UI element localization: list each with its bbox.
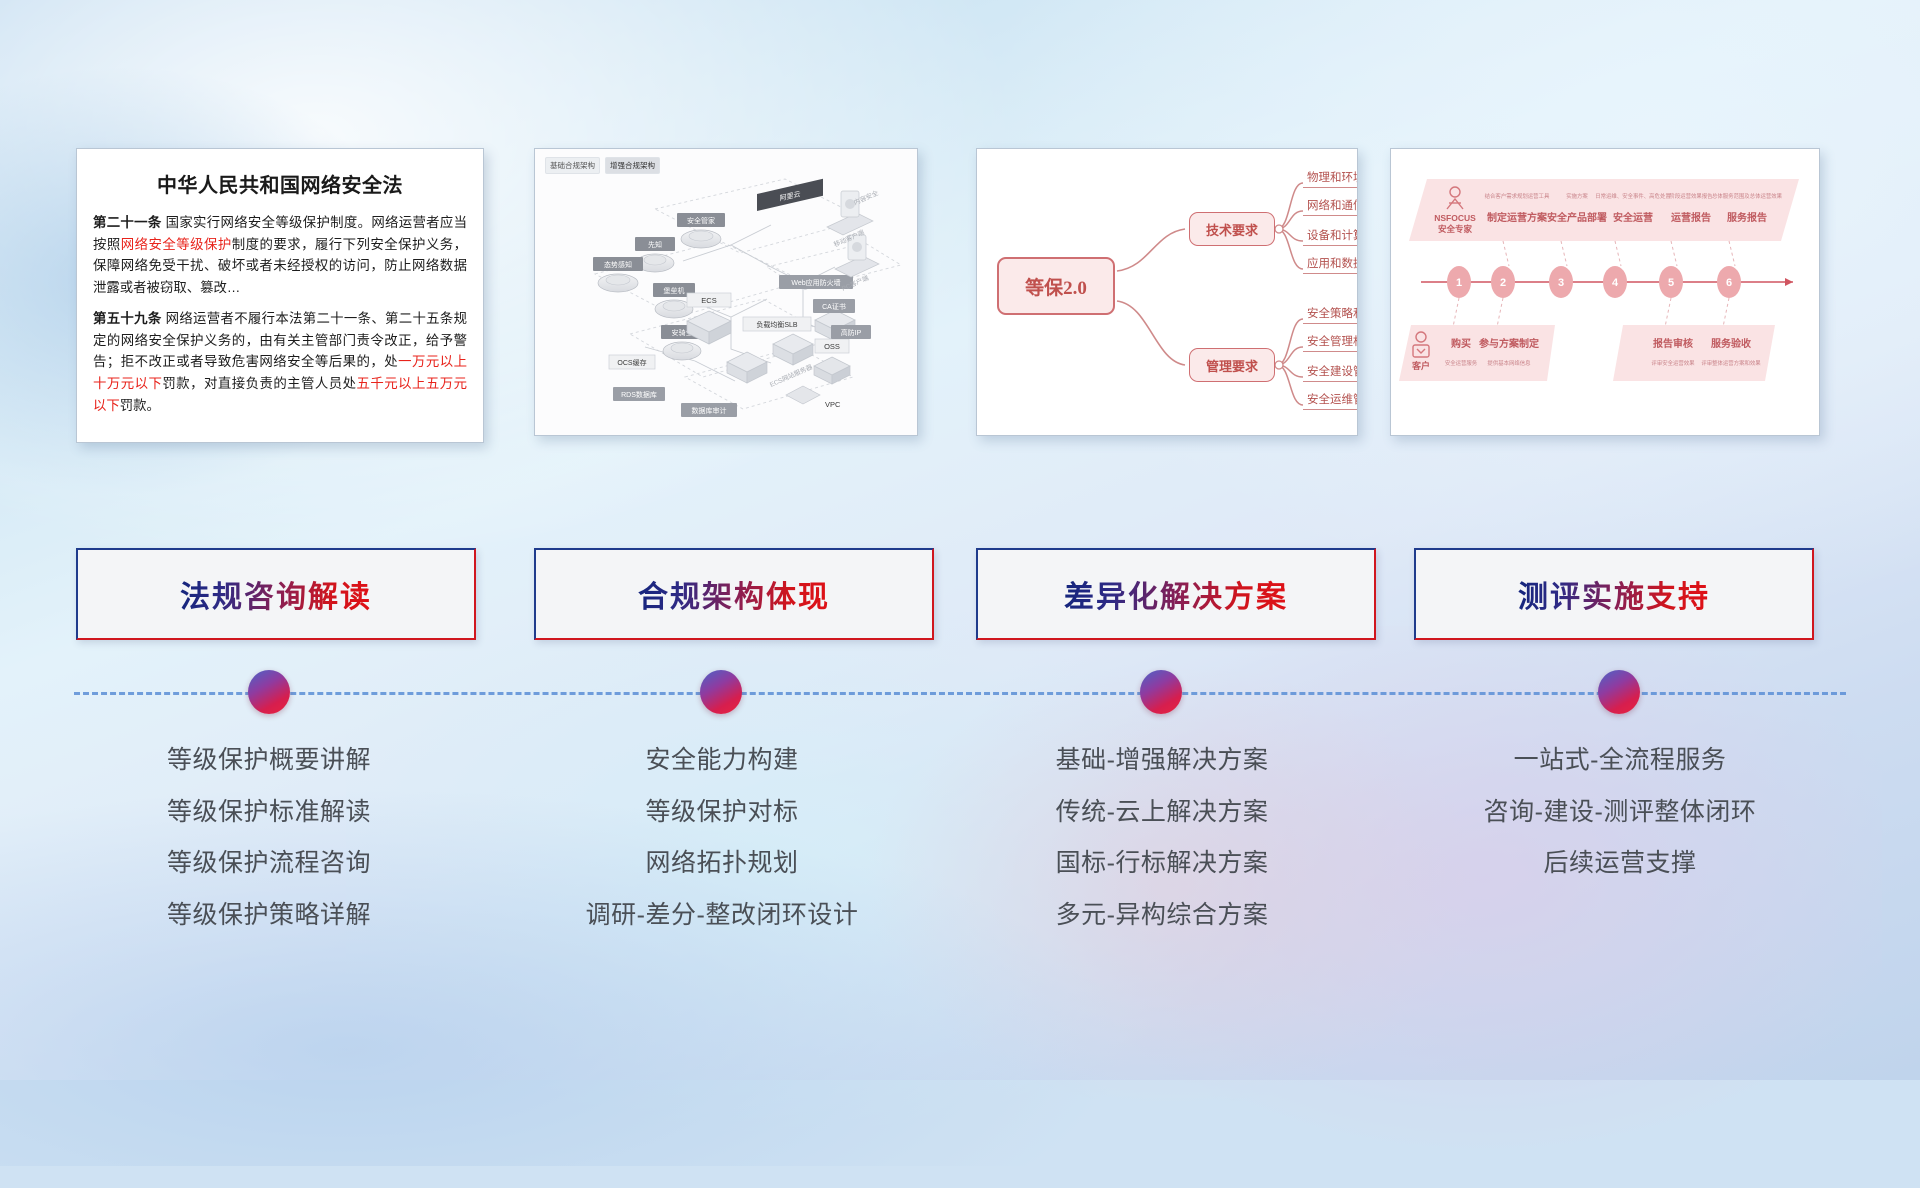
bottom-banner-left	[1399, 325, 1555, 381]
list-item: 基础-增强解决方案	[962, 740, 1362, 781]
timeline-dot-2[interactable]	[700, 670, 742, 714]
list-item: 后续运营支撑	[1420, 843, 1820, 884]
law-article-21-label: 第二十一条	[93, 215, 162, 230]
law-article-59-post: 罚款。	[120, 398, 160, 413]
svg-text:实施方案: 实施方案	[1566, 192, 1588, 200]
list-item: 网络拓扑规划	[522, 843, 922, 884]
svg-text:VPC: VPC	[825, 400, 841, 409]
svg-text:提供基本网络信息: 提供基本网络信息	[1487, 359, 1531, 367]
svg-text:1: 1	[1456, 277, 1462, 289]
svg-text:运营报告: 运营报告	[1671, 211, 1711, 224]
svg-text:堡垒机: 堡垒机	[664, 286, 685, 295]
svg-text:安全运营: 安全运营	[1613, 211, 1653, 224]
list-item: 传统-云上解决方案	[962, 792, 1362, 833]
header-box-regulation-consulting[interactable]: 法规咨询解读	[76, 548, 476, 640]
header-box-differentiated-solution[interactable]: 差异化解决方案	[976, 548, 1376, 640]
header-label: 合规架构体现	[638, 572, 830, 616]
mindmap-leaf[interactable]: 设备和计算安全	[1303, 227, 1358, 246]
header-label: 测评实施支持	[1518, 572, 1710, 616]
svg-text:负载均衡SLB: 负载均衡SLB	[756, 320, 798, 329]
law-article-21-highlight: 网络安全等级保护	[121, 237, 232, 252]
mindmap-root[interactable]: 等保2.0	[997, 257, 1115, 315]
list-item: 调研-差分-整改闭环设计	[522, 895, 922, 936]
expert-label-line1: NSFOCUS	[1434, 213, 1476, 223]
law-title: 中华人民共和国网络安全法	[93, 169, 467, 198]
svg-text:结合客户需求规划运营工具: 结合客户需求规划运营工具	[1485, 192, 1550, 200]
nsfocus-svg: NSFOCUS 安全专家 客户 1	[1391, 149, 1819, 435]
svg-text:RDS数据库: RDS数据库	[621, 390, 657, 399]
svg-text:先知: 先知	[648, 240, 662, 249]
mindmap-branch-management[interactable]: 管理要求	[1189, 348, 1275, 382]
mindmap-diagram: 等保2.0 技术要求 管理要求 物理和环境安全 网络和通信安全 设备和计算安全 …	[977, 149, 1357, 435]
timeline-dot-1[interactable]	[248, 670, 290, 714]
mindmap-leaf[interactable]: 安全建设管理	[1303, 363, 1358, 382]
bottom-banner-right	[1613, 325, 1775, 381]
svg-text:4: 4	[1612, 277, 1619, 289]
svg-text:服务报告: 服务报告	[1727, 211, 1767, 224]
expert-label-line2: 安全专家	[1438, 224, 1473, 234]
list-item: 安全能力构建	[522, 740, 922, 781]
list-item: 等级保护概要讲解	[69, 740, 469, 781]
law-article-59: 第五十九条 网络运营者不履行本法第二十一条、第二十五条规定的网络安全保护义务的，…	[93, 308, 467, 417]
svg-text:安全产品部署: 安全产品部署	[1547, 211, 1607, 224]
detail-column-assessment-support: 一站式-全流程服务 咨询-建设-测评整体闭环 后续运营支撑	[1420, 740, 1820, 895]
header-box-compliance-architecture[interactable]: 合规架构体现	[534, 548, 934, 640]
header-label: 差异化解决方案	[1064, 572, 1288, 616]
svg-text:购买: 购买	[1451, 337, 1471, 350]
svg-text:数据库审计: 数据库审计	[692, 406, 727, 415]
card-cybersecurity-law[interactable]: 中华人民共和国网络安全法 第二十一条 国家实行网络安全等级保护制度。网络运营者应…	[76, 148, 484, 443]
detail-list-row: 等级保护概要讲解 等级保护标准解读 等级保护流程咨询 等级保护策略详解 安全能力…	[0, 740, 1920, 960]
mindmap-leaf[interactable]: 安全运维管理	[1303, 391, 1358, 410]
header-box-assessment-support[interactable]: 测评实施支持	[1414, 548, 1814, 640]
mindmap-leaf[interactable]: 网络和通信安全	[1303, 197, 1358, 216]
customer-label: 客户	[1411, 360, 1430, 371]
bottom-captions: 安全运营服务 提供基本网络信息 评审安全运营效果 评审整体运营方案和效果	[1445, 359, 1761, 367]
thumbnail-card-row: 中华人民共和国网络安全法 第二十一条 国家实行网络安全等级保护制度。网络运营者应…	[0, 148, 1920, 448]
svg-text:ECS网站服务器: ECS网站服务器	[768, 362, 814, 389]
mindmap-leaf[interactable]: 应用和数据安全	[1303, 255, 1358, 274]
card-cloud-architecture[interactable]: 基础合规架构 增强合规架构	[534, 148, 918, 436]
top-captions: 结合客户需求规划运营工具 实施方案 日常运维、安全事件、高危处置 阶段运营效果报…	[1485, 192, 1783, 200]
svg-text:参与方案制定: 参与方案制定	[1479, 337, 1539, 350]
svg-text:2: 2	[1500, 277, 1506, 289]
svg-text:安全运营服务: 安全运营服务	[1445, 359, 1478, 367]
svg-text:阶段运营效果报告: 阶段运营效果报告	[1669, 192, 1713, 200]
detail-column-differentiated-solution: 基础-增强解决方案 传统-云上解决方案 国标-行标解决方案 多元-异构综合方案	[962, 740, 1362, 946]
svg-text:Web应用防火墙: Web应用防火墙	[791, 278, 840, 287]
mindmap-leaf[interactable]: 物理和环境安全	[1303, 169, 1358, 188]
svg-text:评审安全运营效果: 评审安全运营效果	[1651, 359, 1695, 367]
svg-text:报告审核: 报告审核	[1653, 337, 1693, 350]
list-item: 咨询-建设-测评整体闭环	[1420, 792, 1820, 833]
svg-text:OSS: OSS	[824, 342, 840, 351]
timeline-dot-4[interactable]	[1598, 670, 1640, 714]
svg-text:日常运维、安全事件、高危处置: 日常运维、安全事件、高危处置	[1595, 192, 1671, 200]
svg-text:服务验收: 服务验收	[1711, 337, 1751, 350]
timeline-arrowhead	[1785, 278, 1793, 286]
architecture-svg: 阿里云 安全管家 先知	[535, 149, 917, 435]
svg-text:制定运营方案: 制定运营方案	[1487, 211, 1548, 224]
architecture-diagram: 基础合规架构 增强合规架构	[535, 149, 917, 435]
svg-text:安全管家: 安全管家	[687, 216, 715, 225]
card-mind-map[interactable]: 等保2.0 技术要求 管理要求 物理和环境安全 网络和通信安全 设备和计算安全 …	[976, 148, 1358, 436]
list-item: 等级保护流程咨询	[69, 843, 469, 884]
list-item: 多元-异构综合方案	[962, 895, 1362, 936]
svg-text:3: 3	[1558, 277, 1564, 289]
slide-stage: 中华人民共和国网络安全法 第二十一条 国家实行网络安全等级保护制度。网络运营者应…	[0, 0, 1920, 1080]
law-text-body: 中华人民共和国网络安全法 第二十一条 国家实行网络安全等级保护制度。网络运营者应…	[77, 149, 483, 442]
law-article-21: 第二十一条 国家实行网络安全等级保护制度。网络运营者应当按照网络安全等级保护制度…	[93, 212, 467, 299]
svg-text:评审整体运营方案和效果: 评审整体运营方案和效果	[1701, 359, 1761, 367]
svg-text:CA证书: CA证书	[822, 302, 846, 311]
mindmap-leaf[interactable]: 安全策略和管理制度	[1303, 305, 1358, 324]
list-item: 等级保护策略详解	[69, 895, 469, 936]
list-item: 等级保护标准解读	[69, 792, 469, 833]
svg-text:总体服务范围及总体运营效果: 总体服务范围及总体运营效果	[1712, 192, 1783, 200]
list-item: 一站式-全流程服务	[1420, 740, 1820, 781]
svg-text:OCS缓存: OCS缓存	[617, 358, 646, 367]
detail-column-regulation-consulting: 等级保护概要讲解 等级保护标准解读 等级保护流程咨询 等级保护策略详解	[69, 740, 469, 946]
svg-text:态势感知: 态势感知	[604, 260, 632, 269]
svg-text:ECS: ECS	[701, 296, 716, 305]
timeline-connector	[0, 660, 1920, 720]
svg-text:高防IP: 高防IP	[841, 328, 862, 337]
list-item: 等级保护对标	[522, 792, 922, 833]
svg-text:6: 6	[1726, 277, 1732, 289]
law-article-59-mid: 罚款，对直接负责的主管人员处	[162, 376, 356, 391]
timeline-dot-3[interactable]	[1140, 670, 1182, 714]
header-label: 法规咨询解读	[180, 572, 372, 616]
detail-column-compliance-architecture: 安全能力构建 等级保护对标 网络拓扑规划 调研-差分-整改闭环设计	[522, 740, 922, 946]
nsfocus-process-diagram: NSFOCUS 安全专家 客户 1	[1391, 149, 1819, 435]
card-nsfocus-timeline[interactable]: NSFOCUS 安全专家 客户 1	[1390, 148, 1820, 436]
law-article-59-label: 第五十九条	[93, 311, 162, 326]
header-box-row: 法规咨询解读 合规架构体现 差异化解决方案 测评实施支持	[0, 548, 1920, 644]
mindmap-leaf[interactable]: 安全管理机构和人员	[1303, 333, 1358, 352]
timeline-dashed-line	[74, 692, 1846, 695]
svg-text:5: 5	[1668, 277, 1674, 289]
list-item: 国标-行标解决方案	[962, 843, 1362, 884]
mindmap-branch-technical[interactable]: 技术要求	[1189, 212, 1275, 246]
